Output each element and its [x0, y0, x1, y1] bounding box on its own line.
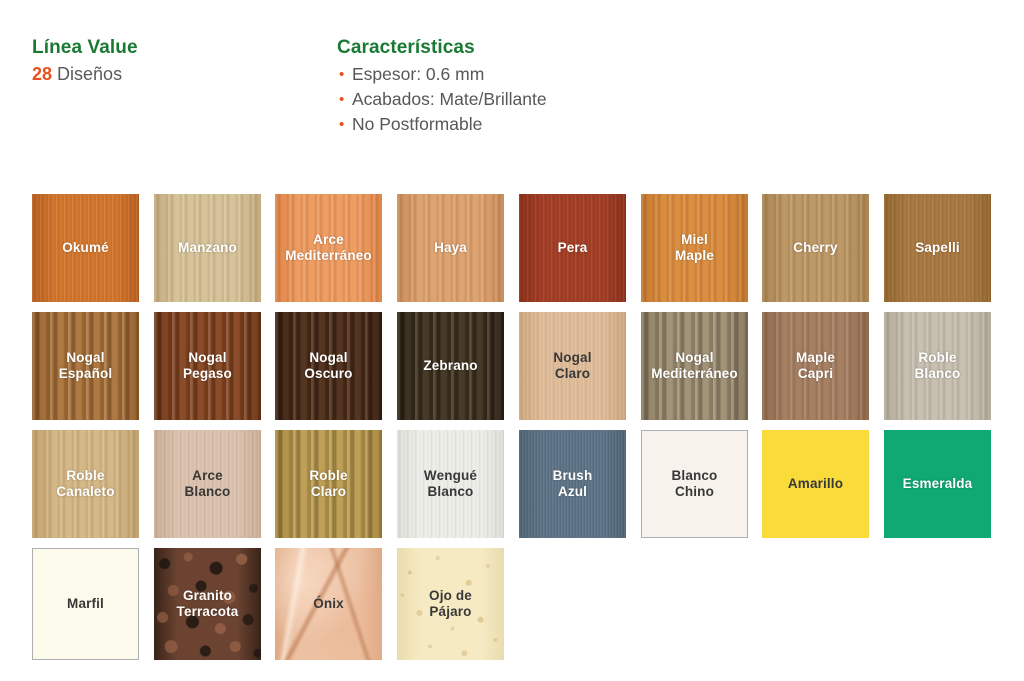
features-column: Características • Espesor: 0.6 mm • Acab…	[337, 36, 547, 137]
swatch-label: Amarillo	[785, 476, 846, 492]
swatch[interactable]: Manzano	[154, 194, 261, 302]
bullet-icon: •	[339, 112, 344, 137]
swatch[interactable]: Zebrano	[397, 312, 504, 420]
swatch-row: OkuméManzanoArceMediterráneoHayaPeraMiel…	[32, 194, 992, 312]
swatch-label: Manzano	[175, 240, 240, 256]
swatch[interactable]: Haya	[397, 194, 504, 302]
swatch[interactable]: Marfil	[32, 548, 139, 660]
swatch[interactable]: MapleCapri	[762, 312, 869, 420]
swatch-row: NogalEspañolNogalPegasoNogalOscuroZebran…	[32, 312, 992, 430]
swatch-row: MarfilGranitoTerracotaÓnixOjo dePájaro	[32, 548, 992, 664]
swatch-label: RobleCanaleto	[53, 468, 117, 500]
swatch[interactable]: Amarillo	[762, 430, 869, 538]
swatch[interactable]: NogalClaro	[519, 312, 626, 420]
swatch[interactable]: NogalEspañol	[32, 312, 139, 420]
bullet-icon: •	[339, 62, 344, 87]
swatch-label: RobleClaro	[306, 468, 350, 500]
catalog-page: Línea Value 28 Diseños Características •…	[0, 0, 1024, 681]
swatch-label: Pera	[555, 240, 591, 256]
swatch-label: NogalEspañol	[56, 350, 116, 382]
swatch-label: ArceBlanco	[182, 468, 234, 500]
swatch-label: Zebrano	[420, 358, 480, 374]
design-count-line: 28 Diseños	[32, 62, 138, 87]
swatch-grid: OkuméManzanoArceMediterráneoHayaPeraMiel…	[32, 194, 992, 664]
swatch-label: NogalOscuro	[301, 350, 355, 382]
feature-text: No Postformable	[352, 114, 482, 134]
feature-item: • Espesor: 0.6 mm	[337, 62, 547, 87]
swatch-label: NogalClaro	[550, 350, 594, 382]
swatch[interactable]: BrushAzul	[519, 430, 626, 538]
swatch[interactable]: RobleBlanco	[884, 312, 991, 420]
swatch-label: Haya	[431, 240, 470, 256]
swatch-label: MapleCapri	[793, 350, 838, 382]
swatch-label: RobleBlanco	[912, 350, 964, 382]
swatch-label: BlancoChino	[669, 468, 721, 500]
swatch[interactable]: RobleClaro	[275, 430, 382, 538]
swatch-label: ArceMediterráneo	[282, 232, 375, 264]
swatch[interactable]: WenguéBlanco	[397, 430, 504, 538]
swatch-row: RobleCanaletoArceBlancoRobleClaroWenguéB…	[32, 430, 992, 548]
swatch-label: MielMaple	[672, 232, 717, 264]
feature-text: Espesor: 0.6 mm	[352, 64, 484, 84]
line-info-column: Línea Value 28 Diseños	[32, 36, 138, 87]
feature-item: • Acabados: Mate/Brillante	[337, 87, 547, 112]
features-title: Características	[337, 36, 547, 60]
swatch-label: Ónix	[310, 596, 347, 612]
swatch[interactable]: Sapelli	[884, 194, 991, 302]
swatch[interactable]: Ojo dePájaro	[397, 548, 504, 660]
swatch[interactable]: Esmeralda	[884, 430, 991, 538]
bullet-icon: •	[339, 87, 344, 112]
swatch[interactable]: NogalPegaso	[154, 312, 261, 420]
swatch[interactable]: Ónix	[275, 548, 382, 660]
swatch[interactable]: Okumé	[32, 194, 139, 302]
swatch-label: Okumé	[59, 240, 112, 256]
swatch[interactable]: NogalOscuro	[275, 312, 382, 420]
swatch-label: BrushAzul	[550, 468, 596, 500]
feature-item: • No Postformable	[337, 112, 547, 137]
feature-text: Acabados: Mate/Brillante	[352, 89, 547, 109]
swatch[interactable]: GranitoTerracota	[154, 548, 261, 660]
design-count-value: 28	[32, 64, 52, 84]
features-list: • Espesor: 0.6 mm • Acabados: Mate/Brill…	[337, 62, 547, 137]
swatch[interactable]: Pera	[519, 194, 626, 302]
line-title: Línea Value	[32, 36, 138, 60]
swatch[interactable]: MielMaple	[641, 194, 748, 302]
swatch-label: WenguéBlanco	[421, 468, 480, 500]
swatch[interactable]: NogalMediterráneo	[641, 312, 748, 420]
swatch-label: Sapelli	[912, 240, 963, 256]
design-count-label: Diseños	[52, 64, 122, 84]
swatch-label: GranitoTerracota	[174, 588, 242, 620]
swatch[interactable]: BlancoChino	[641, 430, 748, 538]
swatch-label: Esmeralda	[900, 476, 976, 492]
swatch-label: NogalMediterráneo	[648, 350, 741, 382]
swatch-label: Ojo dePájaro	[426, 588, 475, 620]
swatch-label: Marfil	[64, 596, 107, 612]
swatch[interactable]: ArceBlanco	[154, 430, 261, 538]
header: Línea Value 28 Diseños Características •…	[0, 0, 1024, 175]
swatch-label: Cherry	[790, 240, 840, 256]
swatch[interactable]: ArceMediterráneo	[275, 194, 382, 302]
swatch[interactable]: Cherry	[762, 194, 869, 302]
swatch-label: NogalPegaso	[180, 350, 235, 382]
swatch[interactable]: RobleCanaleto	[32, 430, 139, 538]
